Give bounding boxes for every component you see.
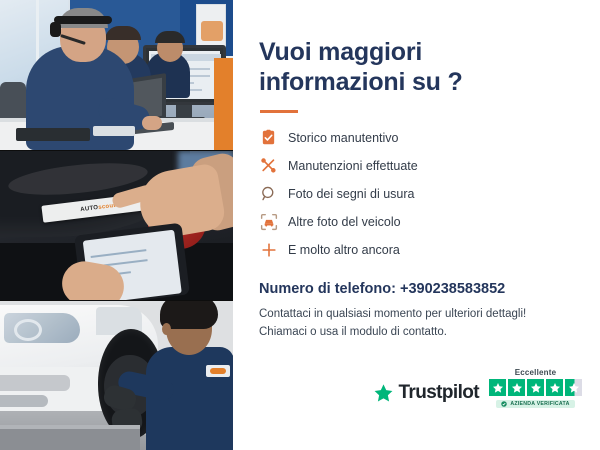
trustpilot-logo[interactable]: Trustpilot	[373, 382, 479, 408]
photo-tint	[0, 151, 233, 300]
star-half	[565, 379, 582, 396]
title-underline-rule	[260, 110, 298, 113]
feature-item-foto-usura: Foto dei segni di usura	[259, 181, 574, 206]
star-filled	[527, 379, 544, 396]
promo-card: AUTOscout	[0, 0, 600, 450]
star-filled	[508, 379, 525, 396]
magnifier-icon	[259, 184, 278, 203]
feature-label: Foto dei segni di usura	[288, 187, 414, 201]
verified-label: AZIENDA VERIFICATA	[510, 401, 569, 407]
trustpilot-star-icon	[373, 383, 394, 404]
feature-item-altro-ancora: E molto altro ancora	[259, 237, 574, 262]
feature-list: Storico manutentivo Manutenzioni effettu…	[259, 125, 574, 262]
feature-item-altre-foto: Altre foto del veicolo	[259, 209, 574, 234]
feature-label: Storico manutentivo	[288, 131, 398, 145]
photo-tint	[0, 301, 233, 450]
trustpilot-rating-block: Eccellente AZIENDA VERIFICATA	[489, 368, 582, 408]
star-filled	[489, 379, 506, 396]
feature-label: Manutenzioni effettuate	[288, 159, 418, 173]
star-filled	[546, 379, 563, 396]
feature-label: Altre foto del veicolo	[288, 215, 401, 229]
tools-cross-icon	[259, 156, 278, 175]
contact-subtext-line-2: Chiamaci o usa il modulo di contatto.	[259, 324, 574, 342]
feature-item-manutenzioni: Manutenzioni effettuate	[259, 153, 574, 178]
trustpilot-rating-label: Eccellente	[515, 368, 557, 377]
photo-tint	[0, 0, 233, 150]
trustpilot-brand: Trustpilot	[398, 382, 479, 404]
page-title: Vuoi maggiori informazioni su ?	[259, 38, 474, 97]
mechanic-wheel-photo	[0, 300, 233, 450]
clipboard-check-icon	[259, 128, 278, 147]
call-centre-agents-photo	[0, 0, 233, 150]
contact-subtext-line-1: Contattaci in qualsiasi momento per ulte…	[259, 306, 574, 324]
feature-item-storico: Storico manutentivo	[259, 125, 574, 150]
car-inspection-strip-photo: AUTOscout	[0, 150, 233, 300]
trustpilot-row: Trustpilot Eccellente AZIENDA VERIFICATA	[259, 368, 582, 408]
plus-icon	[259, 240, 278, 259]
trustpilot-stars	[489, 379, 582, 396]
info-panel: Vuoi maggiori informazioni su ? Storico …	[233, 0, 600, 450]
feature-label: E molto altro ancora	[288, 243, 400, 257]
verified-company-badge: AZIENDA VERIFICATA	[496, 400, 574, 408]
phone-line: Numero di telefono: +390238583852	[259, 281, 574, 297]
verified-check-icon	[501, 401, 507, 407]
car-focus-frame-icon	[259, 212, 278, 231]
photo-column: AUTOscout	[0, 0, 233, 450]
contact-subtext: Contattaci in qualsiasi momento per ulte…	[259, 306, 574, 342]
